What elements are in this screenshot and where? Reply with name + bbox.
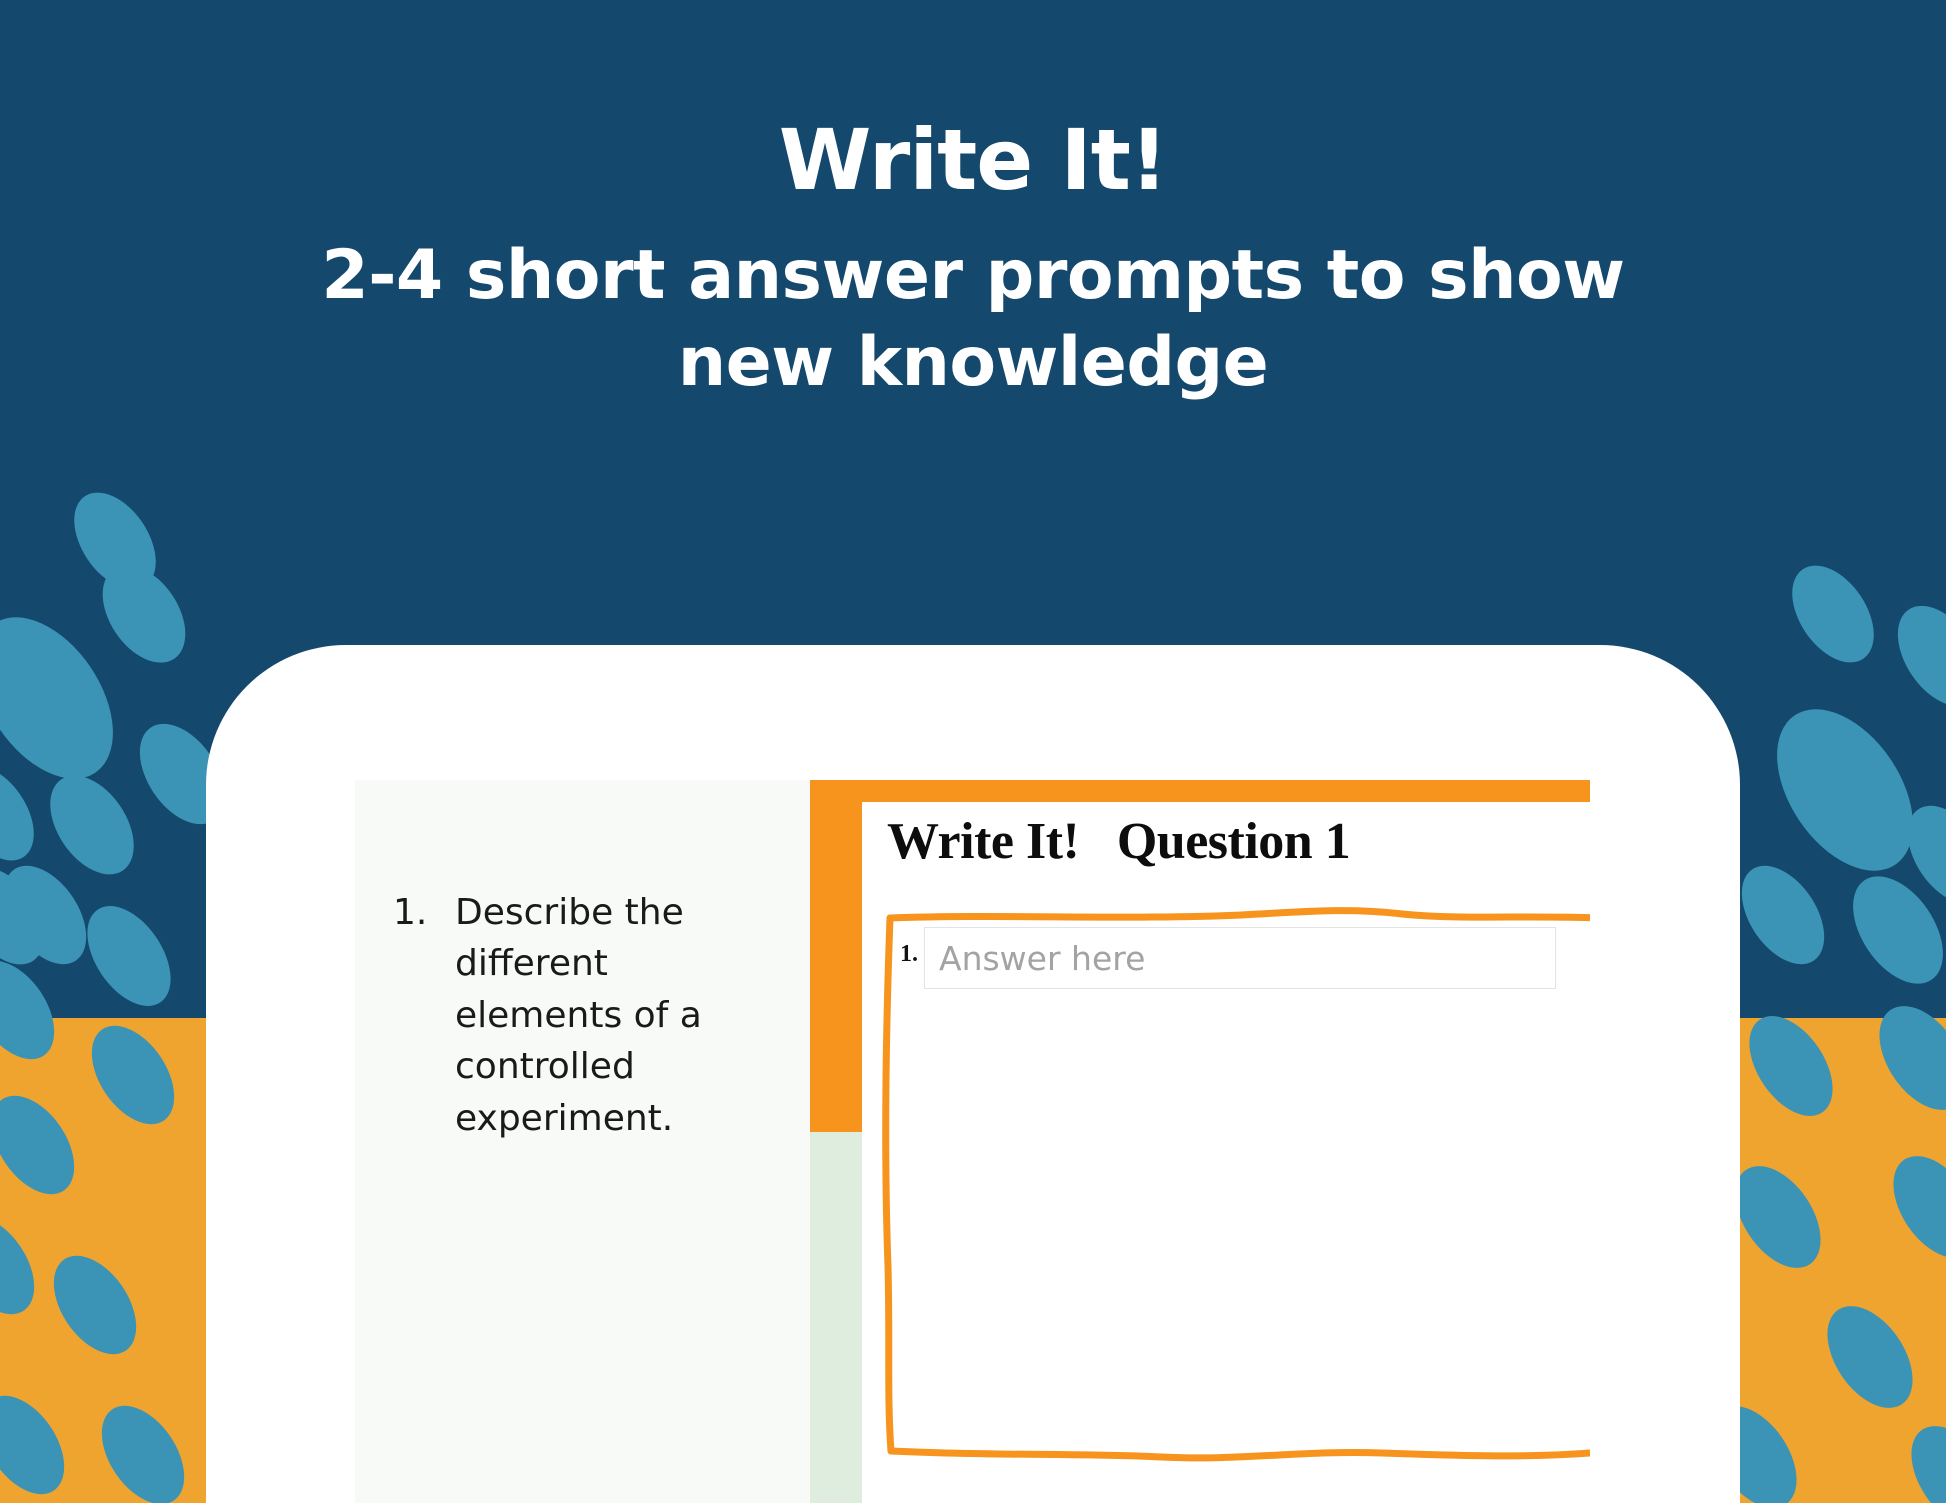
divider-rail-orange	[810, 780, 862, 1132]
page-title: Write It!	[0, 118, 1946, 202]
hero-text-block: Write It! 2-4 short answer prompts to sh…	[0, 118, 1946, 406]
ellipse-confetti-icon	[33, 760, 151, 889]
answer-placeholder: Answer here	[939, 939, 1145, 978]
accent-top-bar	[862, 780, 1590, 802]
content-card: 1. Describe the different elements of a …	[206, 645, 1740, 1503]
ellipse-confetti-icon	[70, 891, 187, 1021]
ellipse-confetti-icon	[0, 593, 141, 804]
page-subtitle: 2-4 short answer prompts to show new kno…	[0, 232, 1946, 406]
slide-canvas: Write It! 2-4 short answer prompts to sh…	[0, 0, 1946, 1503]
question-text: Describe the different elements of a con…	[455, 887, 755, 1144]
ellipse-confetti-icon	[0, 751, 50, 875]
embedded-slide: 1. Describe the different elements of a …	[355, 780, 1590, 1503]
ellipse-confetti-icon	[1749, 685, 1941, 896]
ellipse-confetti-icon	[1880, 591, 1946, 722]
hand-drawn-rectangle-icon	[882, 906, 1590, 1466]
slide-heading: Write It! Question 1	[887, 812, 1350, 871]
slide-left-panel: 1. Describe the different elements of a …	[355, 780, 810, 1503]
divider-rail-green	[810, 1132, 862, 1503]
ellipse-confetti-icon	[0, 851, 103, 979]
ellipse-confetti-icon	[57, 478, 172, 604]
ellipse-confetti-icon	[86, 550, 203, 678]
ellipse-confetti-icon	[0, 853, 61, 979]
list-item: 1. Describe the different elements of a …	[393, 887, 763, 1144]
answer-number: 1.	[900, 941, 918, 968]
ellipse-confetti-icon	[1725, 851, 1841, 979]
ellipse-confetti-icon	[1891, 791, 1946, 919]
answer-row[interactable]: 1. Answer here	[900, 927, 1556, 989]
ellipse-confetti-icon	[1775, 551, 1890, 677]
ellipse-confetti-icon	[1835, 860, 1946, 1000]
slide-right-panel: Write It! Question 1 1. Answer here	[862, 780, 1590, 1503]
question-list: 1. Describe the different elements of a …	[393, 887, 763, 1144]
answer-input[interactable]: Answer here	[924, 927, 1556, 989]
question-number: 1.	[393, 887, 455, 1144]
